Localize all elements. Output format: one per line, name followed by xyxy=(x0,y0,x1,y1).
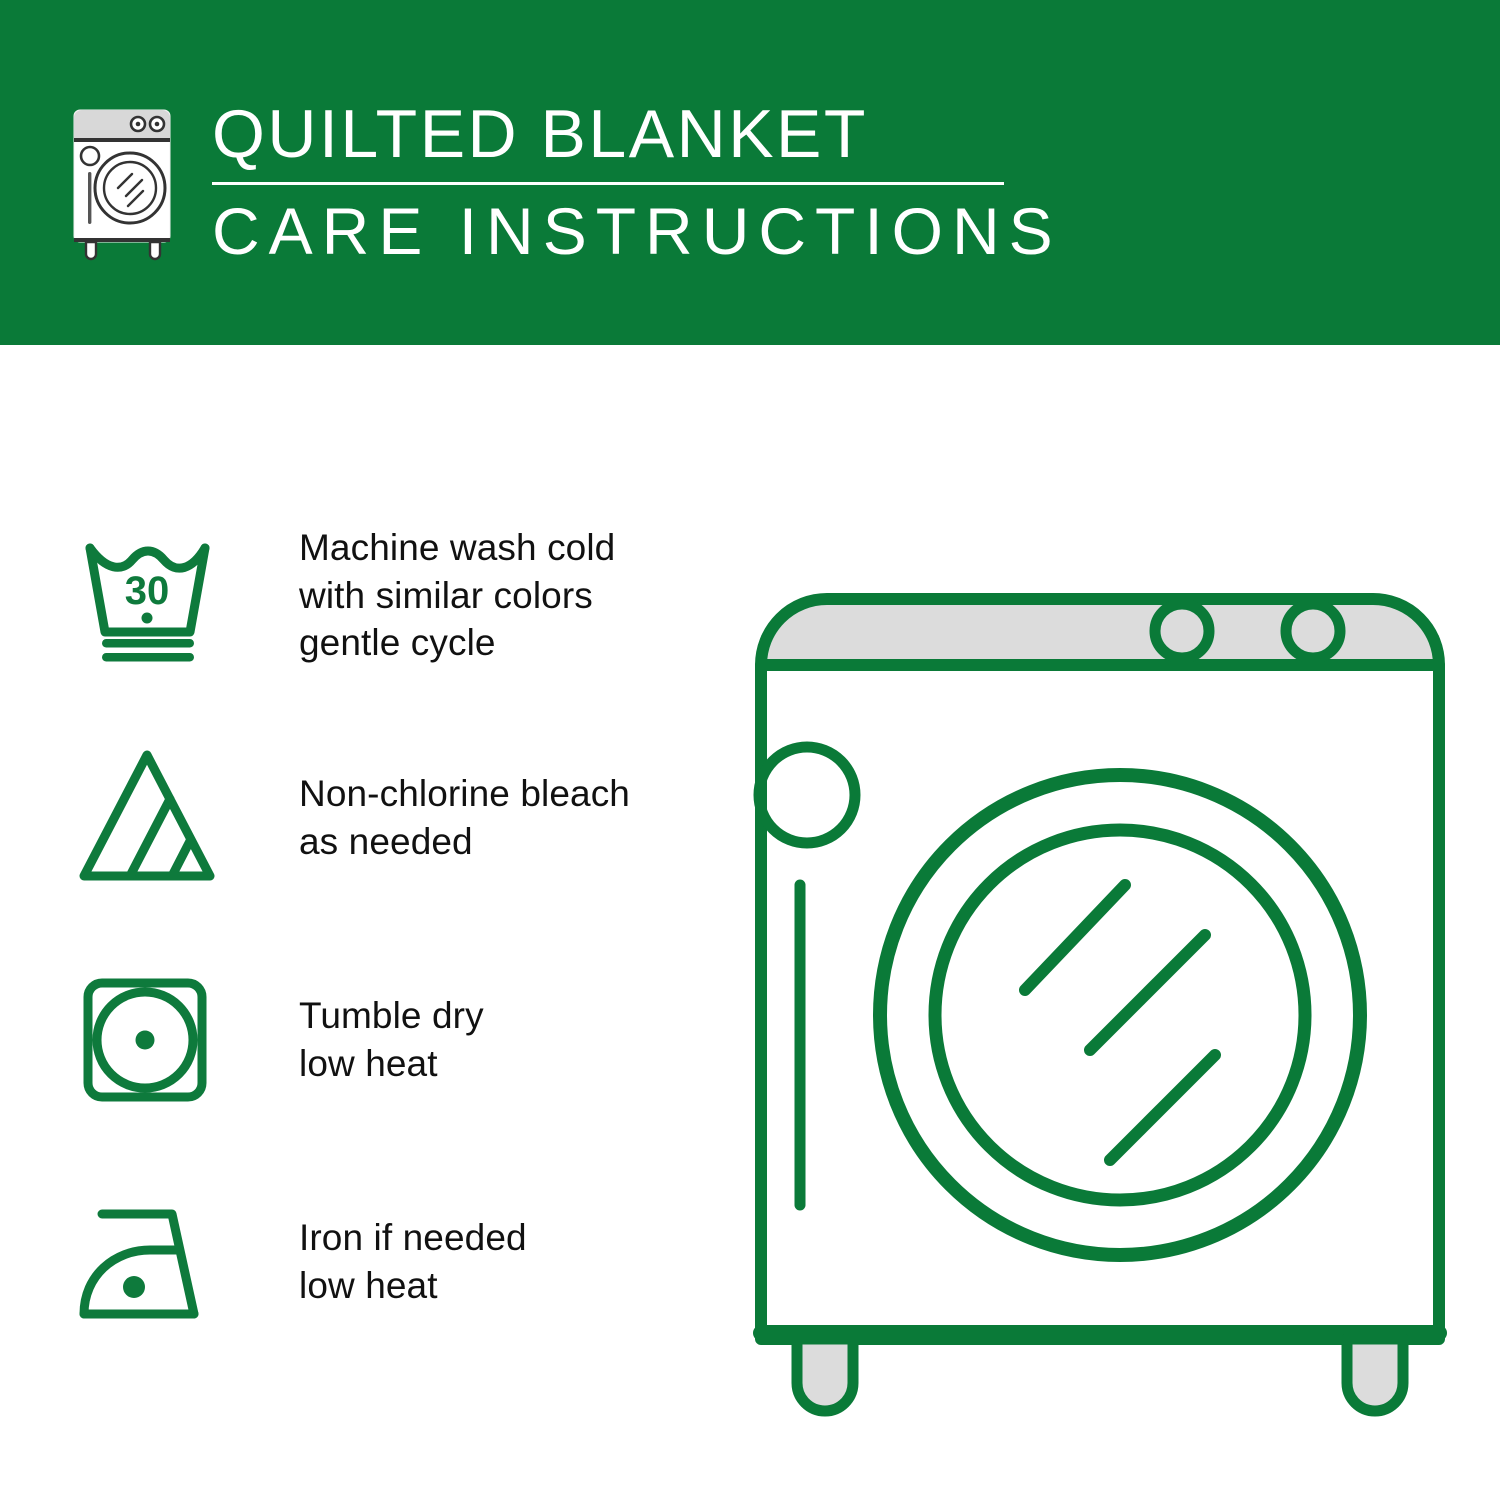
list-item: Iron if needed low heat xyxy=(72,1179,712,1344)
machine-leg-right xyxy=(1347,1339,1403,1411)
detergent-indicator-circle xyxy=(759,747,855,843)
wash-temperature-label: 30 xyxy=(125,569,170,613)
non-chlorine-bleach-triangle-icon xyxy=(72,743,237,893)
list-item-label: Iron if needed low heat xyxy=(299,1214,527,1309)
washing-machine-logo-icon xyxy=(62,96,190,264)
header-title-block: QUILTED BLANKET CARE INSTRUCTIONS xyxy=(212,96,1062,266)
list-item-label: Non-chlorine bleach as needed xyxy=(299,770,630,865)
page-subtitle: CARE INSTRUCTIONS xyxy=(212,197,1062,266)
list-item: Tumble dry low heat xyxy=(72,957,712,1122)
page-title: QUILTED BLANKET xyxy=(212,100,1062,168)
list-item: 30 Machine wash cold with similar colors… xyxy=(72,513,712,678)
iron-low-heat-icon xyxy=(72,1187,237,1337)
wash-tub-30-gentle-icon: 30 xyxy=(72,521,237,671)
care-instruction-list: 30 Machine wash cold with similar colors… xyxy=(72,513,712,1344)
drum-stripe-1 xyxy=(1025,885,1125,990)
poster-body: 30 Machine wash cold with similar colors… xyxy=(0,345,1500,1500)
tumble-dry-low-heat-icon xyxy=(72,965,237,1115)
machine-body-outline xyxy=(761,599,1439,1339)
title-divider xyxy=(212,182,1004,185)
header-content: QUILTED BLANKET CARE INSTRUCTIONS xyxy=(62,96,1062,266)
machine-leg-left xyxy=(797,1339,853,1411)
list-item: Non-chlorine bleach as needed xyxy=(72,735,712,900)
list-item-label: Tumble dry low heat xyxy=(299,992,484,1087)
large-washing-machine-illustration xyxy=(735,495,1465,1425)
drum-stripe-2 xyxy=(1090,935,1205,1050)
drum-stripe-3 xyxy=(1110,1055,1215,1160)
list-item-label: Machine wash cold with similar colors ge… xyxy=(299,524,615,666)
poster-header: QUILTED BLANKET CARE INSTRUCTIONS xyxy=(0,0,1500,345)
care-instructions-poster: QUILTED BLANKET CARE INSTRUCTIONS xyxy=(0,0,1500,1500)
